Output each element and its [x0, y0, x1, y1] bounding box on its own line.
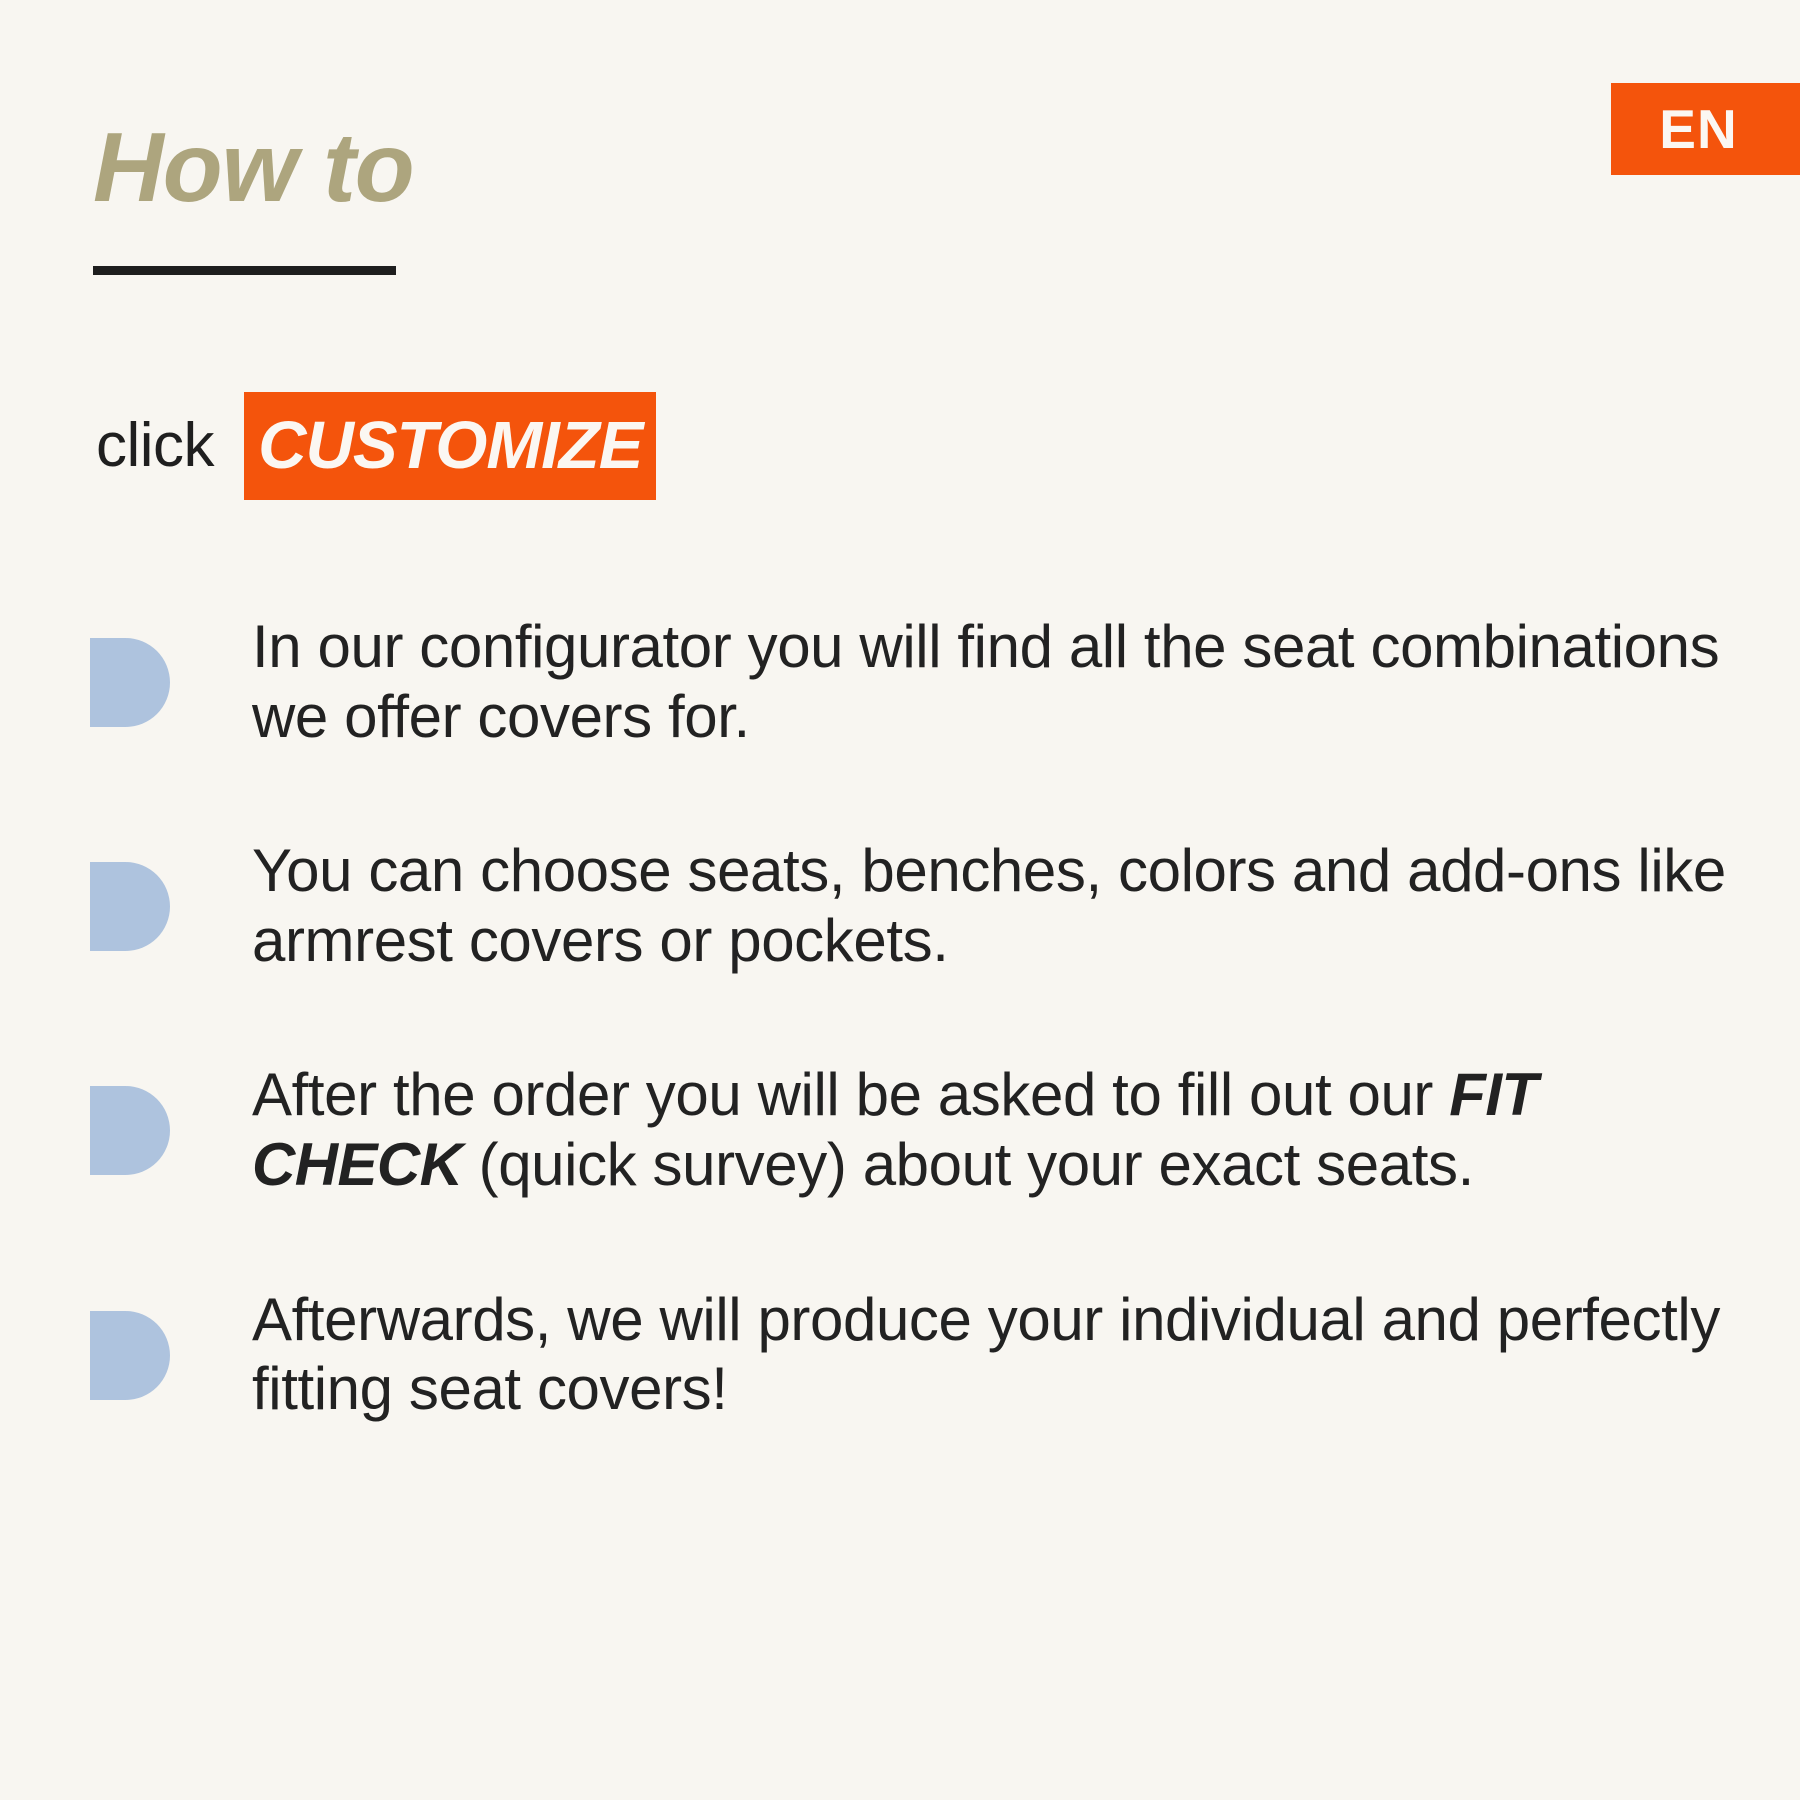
d-shape-bullet-icon — [90, 638, 170, 727]
steps-list: In our configurator you will find all th… — [90, 612, 1750, 1424]
cta-line: click CUSTOMIZE — [96, 396, 656, 496]
list-item: After the order you will be asked to fil… — [90, 1060, 1750, 1199]
heading-underline-rule — [93, 266, 396, 275]
language-badge-label: EN — [1659, 102, 1737, 157]
list-item: Afterwards, we will produce your individ… — [90, 1285, 1750, 1424]
d-shape-bullet-icon — [90, 1086, 170, 1175]
list-item-text: Afterwards, we will produce your individ… — [170, 1285, 1750, 1424]
list-item-text-before: In our configurator you will find all th… — [252, 613, 1719, 750]
list-item-text: In our configurator you will find all th… — [170, 612, 1750, 751]
list-item-text-before: You can choose seats, benches, colors an… — [252, 837, 1726, 974]
list-item-text-before: Afterwards, we will produce your individ… — [252, 1286, 1720, 1423]
list-item: In our configurator you will find all th… — [90, 612, 1750, 751]
language-badge[interactable]: EN — [1611, 83, 1800, 175]
list-item-text-before: After the order you will be asked to fil… — [252, 1061, 1449, 1128]
how-to-infographic: EN How to click CUSTOMIZE In our configu… — [0, 0, 1800, 1800]
page-title: How to — [93, 118, 414, 218]
customize-button-highlight[interactable]: CUSTOMIZE — [244, 392, 656, 500]
list-item-text: You can choose seats, benches, colors an… — [170, 836, 1750, 975]
list-item-text-after: (quick survey) about your exact seats. — [462, 1131, 1474, 1198]
list-item: You can choose seats, benches, colors an… — [90, 836, 1750, 975]
list-item-text: After the order you will be asked to fil… — [170, 1060, 1750, 1199]
heading-block: How to — [93, 118, 414, 218]
cta-prefix-label: click — [96, 415, 244, 477]
d-shape-bullet-icon — [90, 862, 170, 951]
d-shape-bullet-icon — [90, 1311, 170, 1400]
